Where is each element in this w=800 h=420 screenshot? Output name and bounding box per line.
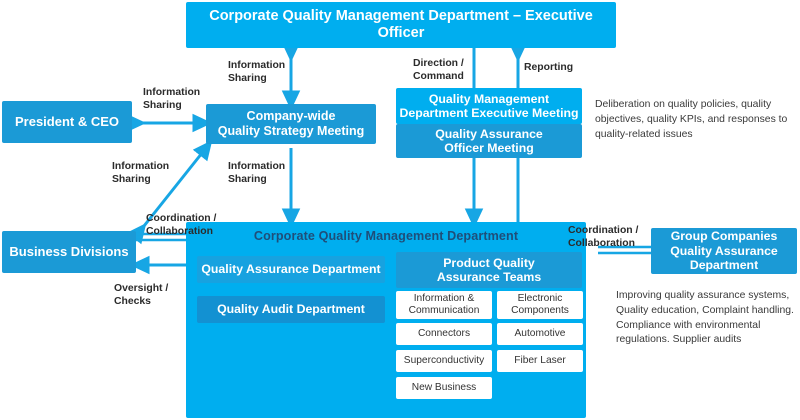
box-quality-audit-department[interactable]: Quality Audit Department: [197, 296, 385, 323]
box-quality-management-dept-executive-meeting[interactable]: Quality Management Department Executive …: [396, 88, 582, 124]
label-information-sharing-diagonal: Information Sharing: [112, 161, 169, 186]
org-chart-diagram: Corporate Quality Management Department …: [0, 0, 800, 420]
box-business-divisions[interactable]: Business Divisions: [2, 231, 136, 273]
label-information-sharing-top: Information Sharing: [228, 60, 285, 85]
team-tile-electronic-components[interactable]: Electronic Components: [497, 291, 583, 319]
label-oversight-checks: Oversight / Checks: [114, 283, 168, 308]
box-quality-assurance-officer-meeting[interactable]: Quality Assurance Officer Meeting: [396, 124, 582, 158]
box-company-wide-quality-strategy-meeting[interactable]: Company-wide Quality Strategy Meeting: [206, 104, 376, 144]
box-product-quality-assurance-teams[interactable]: Product Quality Assurance Teams: [396, 252, 582, 288]
team-tile-fiber-laser[interactable]: Fiber Laser: [497, 350, 583, 372]
box-group-companies-qa-department[interactable]: Group Companies Quality Assurance Depart…: [651, 228, 797, 274]
team-tile-automotive[interactable]: Automotive: [497, 323, 583, 345]
label-information-sharing-panel: Information Sharing: [228, 161, 285, 186]
note-deliberation: Deliberation on quality policies, qualit…: [595, 98, 795, 142]
team-tile-superconductivity[interactable]: Superconductivity: [396, 350, 492, 372]
label-coordination-collaboration-left: Coordination / Collaboration: [146, 213, 216, 238]
label-coordination-collaboration-right: Coordination / Collaboration: [568, 225, 638, 250]
box-president-ceo[interactable]: President & CEO: [2, 101, 132, 143]
box-quality-assurance-department[interactable]: Quality Assurance Department: [197, 256, 385, 283]
exec-officer-title-bar: Corporate Quality Management Department …: [186, 2, 616, 48]
team-tile-information-communication[interactable]: Information & Communication: [396, 291, 492, 319]
note-improving: Improving quality assurance systems, Qua…: [616, 289, 796, 348]
label-direction-command: Direction / Command: [413, 58, 464, 83]
label-information-sharing-president: Information Sharing: [143, 87, 200, 112]
panel-title: Corporate Quality Management Department: [186, 226, 586, 246]
label-reporting: Reporting: [524, 62, 573, 75]
team-tile-new-business[interactable]: New Business: [396, 377, 492, 399]
team-tile-connectors[interactable]: Connectors: [396, 323, 492, 345]
